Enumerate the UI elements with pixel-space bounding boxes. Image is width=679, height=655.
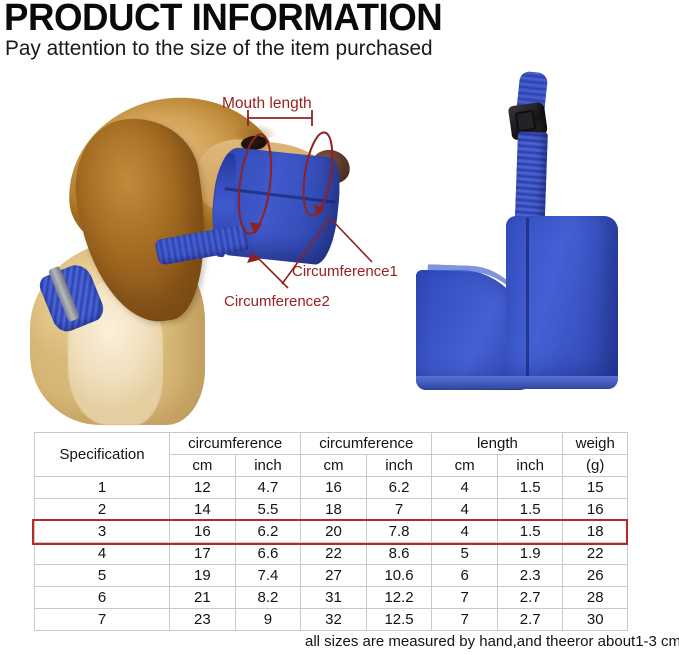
header-circumference-2: circumference <box>301 433 432 455</box>
product-hem <box>416 376 618 389</box>
cell-c1-inch: 9 <box>235 609 301 631</box>
table-body: 1124.7166.241.5152145.518741.5163166.220… <box>35 477 628 631</box>
cell-c1-inch: 8.2 <box>235 587 301 609</box>
cell-len-cm: 4 <box>432 499 498 521</box>
cell-c2-inch: 6.2 <box>366 477 432 499</box>
table-row: 3166.2207.841.518 <box>35 521 628 543</box>
cell-c1-cm: 19 <box>170 565 236 587</box>
cell-weigh: 26 <box>563 565 628 587</box>
cell-weigh: 28 <box>563 587 628 609</box>
table-row: 6218.23112.272.728 <box>35 587 628 609</box>
table-row: 2145.518741.516 <box>35 499 628 521</box>
header-weigh-unit: (g) <box>563 455 628 477</box>
cell-len-inch: 1.9 <box>497 543 563 565</box>
cell-weigh: 18 <box>563 521 628 543</box>
cell-c1-cm: 17 <box>170 543 236 565</box>
table-row: 1124.7166.241.515 <box>35 477 628 499</box>
cell-c2-cm: 27 <box>301 565 367 587</box>
cell-c2-cm: 22 <box>301 543 367 565</box>
cell-c1-cm: 14 <box>170 499 236 521</box>
cell-c2-inch: 7 <box>366 499 432 521</box>
cell-c1-cm: 23 <box>170 609 236 631</box>
cell-len-cm: 7 <box>432 609 498 631</box>
cell-c2-cm: 31 <box>301 587 367 609</box>
cell-len-inch: 1.5 <box>497 521 563 543</box>
cell-c1-inch: 4.7 <box>235 477 301 499</box>
header-specification: Specification <box>35 433 170 477</box>
cell-len-inch: 1.5 <box>497 477 563 499</box>
cell-spec: 2 <box>35 499 170 521</box>
cell-c2-inch: 8.6 <box>366 543 432 565</box>
cell-c1-cm: 16 <box>170 521 236 543</box>
cell-len-cm: 5 <box>432 543 498 565</box>
cell-c1-cm: 21 <box>170 587 236 609</box>
cell-len-inch: 1.5 <box>497 499 563 521</box>
table-row: 72393212.572.730 <box>35 609 628 631</box>
cell-c2-inch: 12.2 <box>366 587 432 609</box>
header-c2-cm: cm <box>301 455 367 477</box>
cell-c2-cm: 18 <box>301 499 367 521</box>
cell-c1-inch: 6.2 <box>235 521 301 543</box>
dog-wearing-muzzle-photo <box>28 90 348 420</box>
cell-c2-inch: 12.5 <box>366 609 432 631</box>
cell-weigh: 30 <box>563 609 628 631</box>
cell-spec: 7 <box>35 609 170 631</box>
cell-weigh: 16 <box>563 499 628 521</box>
table-row: 5197.42710.662.326 <box>35 565 628 587</box>
size-table: Specification circumference circumferenc… <box>34 432 628 631</box>
cell-len-cm: 4 <box>432 477 498 499</box>
cell-spec: 3 <box>35 521 170 543</box>
cell-weigh: 15 <box>563 477 628 499</box>
cell-spec: 5 <box>35 565 170 587</box>
size-chart: Specification circumference circumferenc… <box>34 432 628 631</box>
cell-len-cm: 6 <box>432 565 498 587</box>
cell-c2-inch: 10.6 <box>366 565 432 587</box>
buckle-prong <box>515 110 537 132</box>
header-len-inch: inch <box>497 455 563 477</box>
table-head: Specification circumference circumferenc… <box>35 433 628 477</box>
header-weigh: weigh <box>563 433 628 455</box>
cell-len-inch: 2.7 <box>497 609 563 631</box>
cell-spec: 4 <box>35 543 170 565</box>
cell-c1-cm: 12 <box>170 477 236 499</box>
cell-c2-cm: 20 <box>301 521 367 543</box>
cell-c2-cm: 32 <box>301 609 367 631</box>
cell-c1-inch: 6.6 <box>235 543 301 565</box>
header-len-cm: cm <box>432 455 498 477</box>
product-illustration-stage: Mouth length Circumference1 Circumferenc… <box>0 66 679 422</box>
header-circumference-1: circumference <box>170 433 301 455</box>
header-c1-cm: cm <box>170 455 236 477</box>
header-c1-inch: inch <box>235 455 301 477</box>
muzzle-product-photo <box>398 66 660 422</box>
cell-c1-inch: 7.4 <box>235 565 301 587</box>
page-subtitle: Pay attention to the size of the item pu… <box>5 36 433 62</box>
product-muzzle-body <box>506 216 618 388</box>
cell-spec: 6 <box>35 587 170 609</box>
header-c2-inch: inch <box>366 455 432 477</box>
cell-weigh: 22 <box>563 543 628 565</box>
cell-spec: 1 <box>35 477 170 499</box>
page-title: PRODUCT INFORMATION <box>4 0 442 38</box>
cell-len-inch: 2.7 <box>497 587 563 609</box>
table-footnote: all sizes are measured by hand,and theer… <box>305 632 679 651</box>
cell-len-cm: 4 <box>432 521 498 543</box>
header-length: length <box>432 433 563 455</box>
table-row: 4176.6228.651.922 <box>35 543 628 565</box>
cell-len-cm: 7 <box>432 587 498 609</box>
cell-c1-inch: 5.5 <box>235 499 301 521</box>
table-group-header-row: Specification circumference circumferenc… <box>35 433 628 455</box>
product-body-seam <box>526 218 529 386</box>
cell-len-inch: 2.3 <box>497 565 563 587</box>
cell-c2-inch: 7.8 <box>366 521 432 543</box>
cell-c2-cm: 16 <box>301 477 367 499</box>
